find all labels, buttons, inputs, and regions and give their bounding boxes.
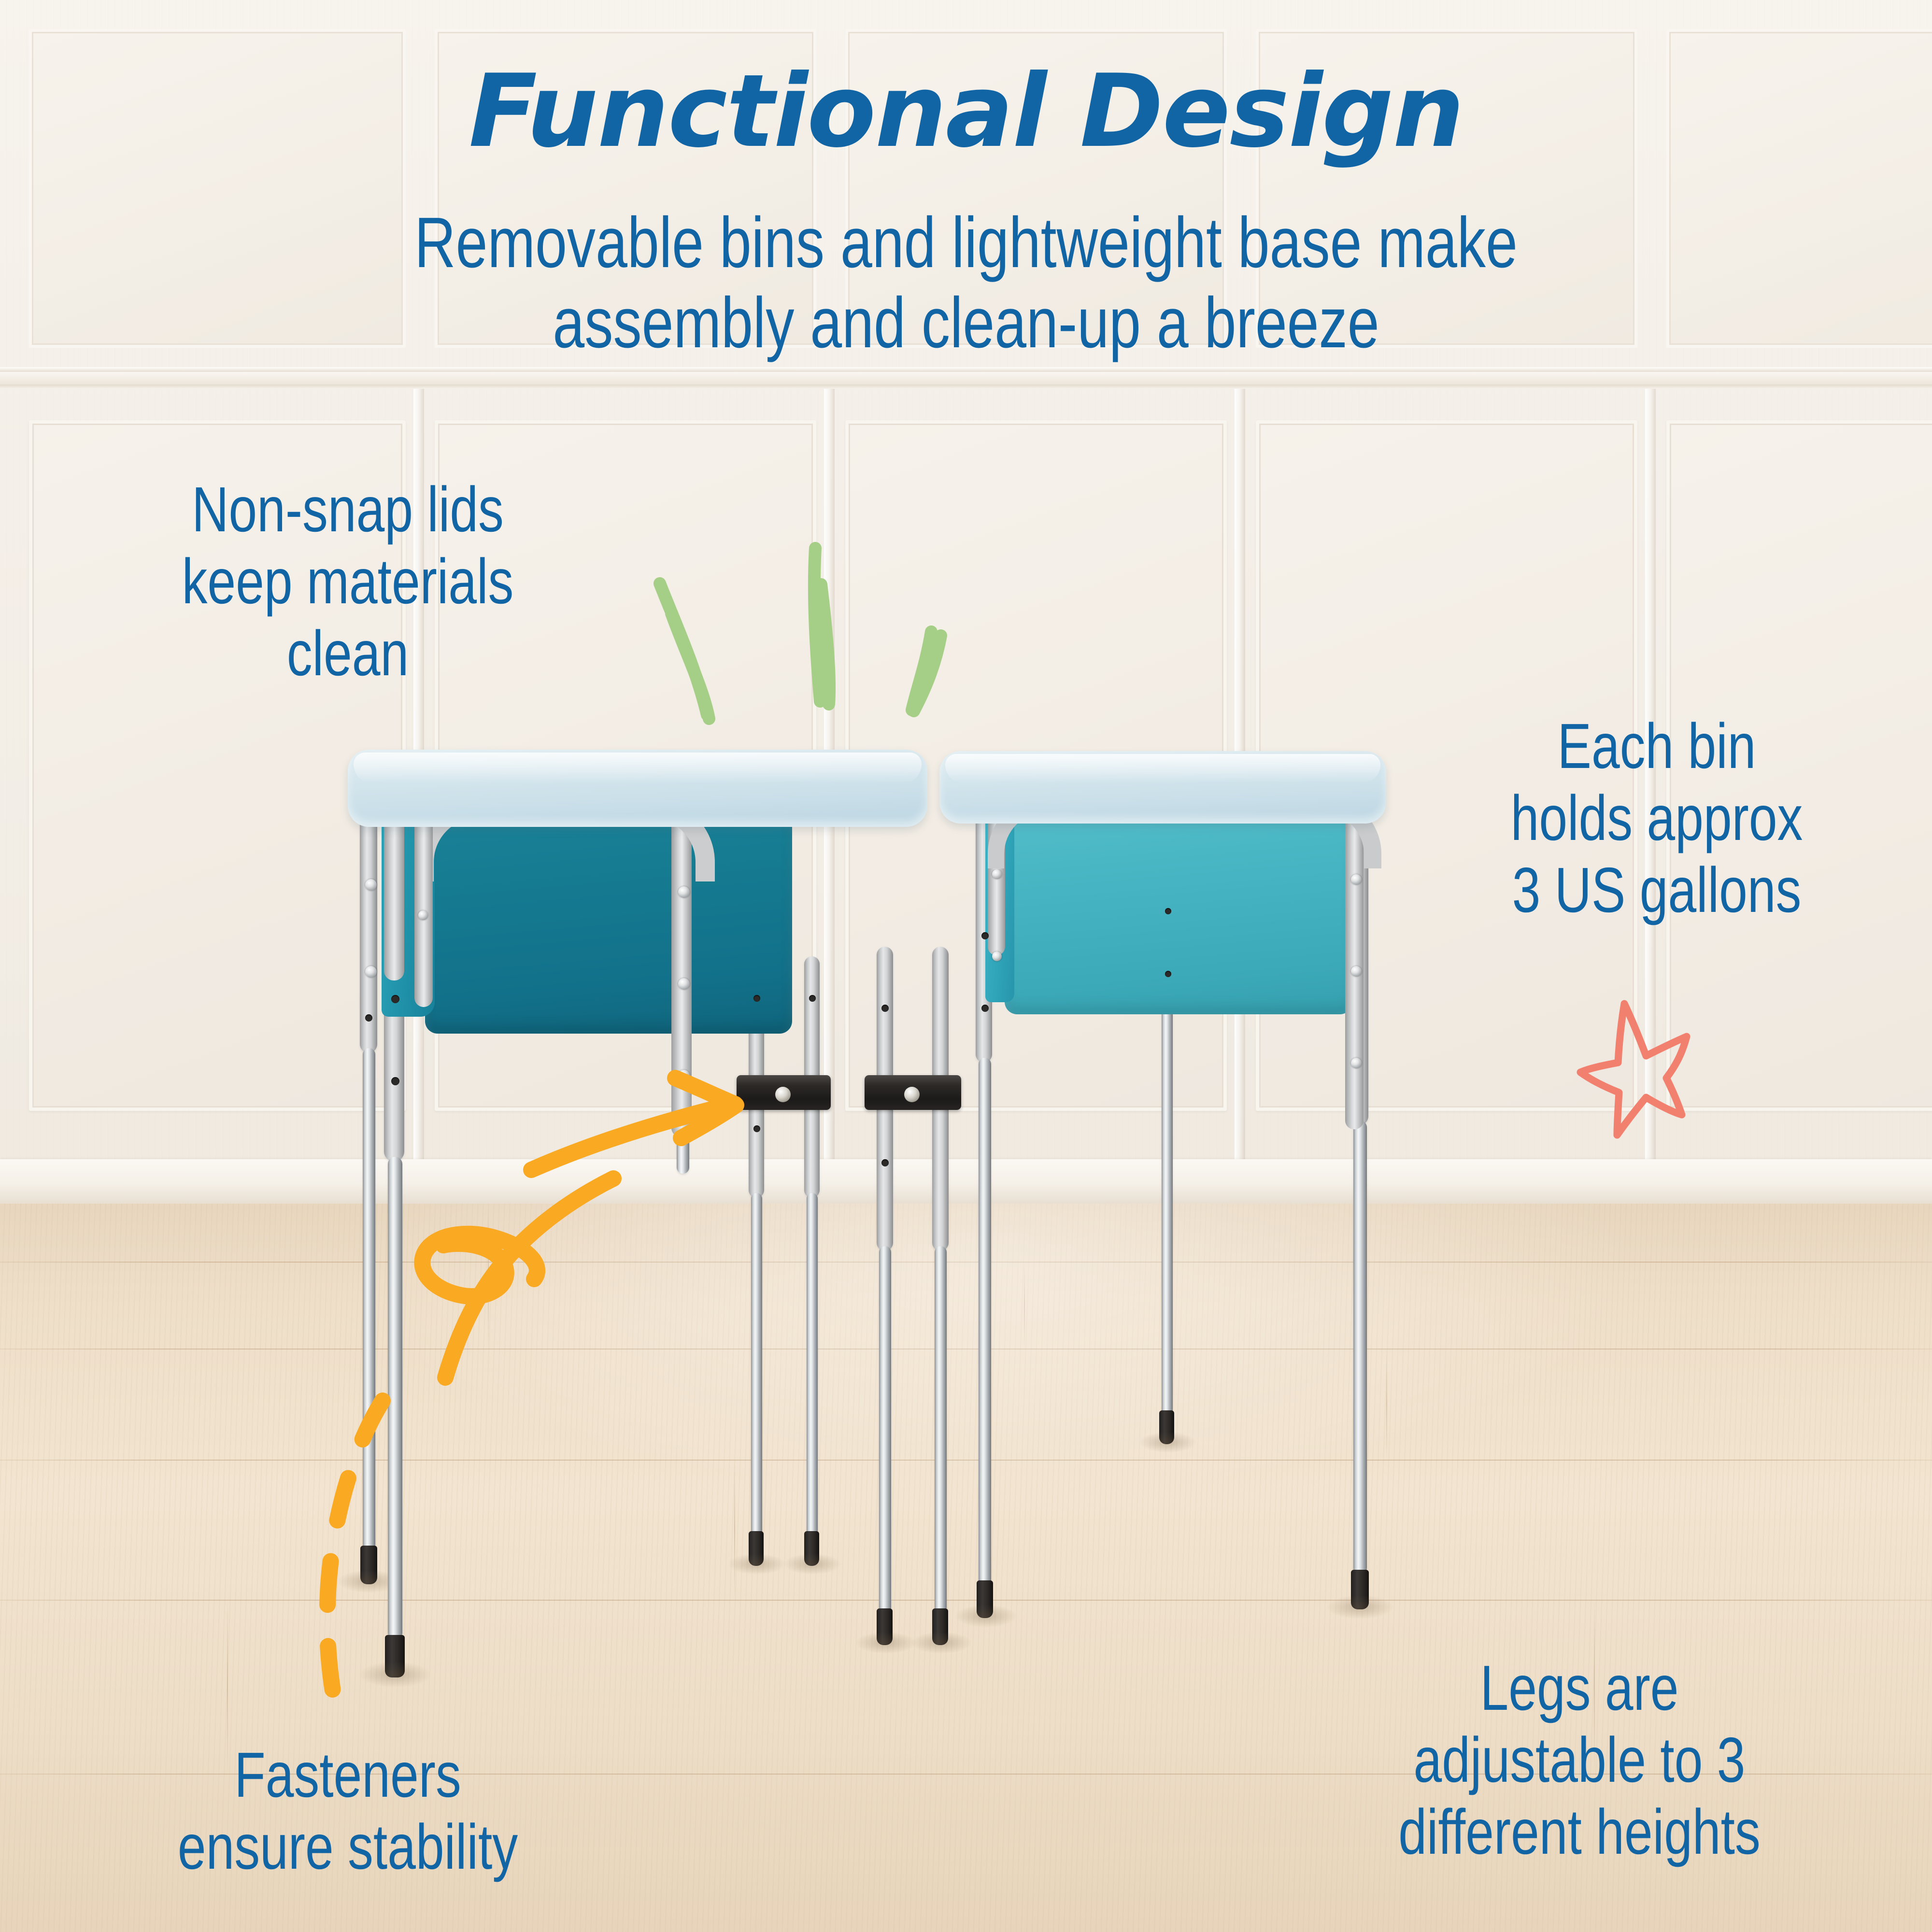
wall-rail-top (0, 367, 1932, 372)
frame-screw (1351, 874, 1362, 885)
height-adjust-hole (391, 995, 399, 1003)
table-lid-highlight (945, 754, 1380, 783)
height-adjust-hole (981, 932, 989, 939)
table-leg-lower (751, 1193, 762, 1536)
callout-line: Each bin (1429, 710, 1885, 782)
height-adjust-hole (1165, 908, 1171, 914)
callout-line: keep materials (93, 545, 603, 617)
table-lid (348, 750, 927, 827)
page-subtitle: Removable bins and lightweight base make… (193, 203, 1739, 363)
table-leg-lower (879, 1246, 891, 1613)
frame-screw (365, 966, 377, 978)
height-adjust-hole (881, 1159, 889, 1166)
page-subtitle-line-1: Removable bins and lightweight base make (193, 203, 1739, 283)
table-leg-lower (1353, 1121, 1367, 1575)
foot-shadow (1326, 1595, 1394, 1619)
callout-line: Non-snap lids (93, 473, 603, 545)
callout-line: Legs are (1305, 1652, 1854, 1724)
callout-line: adjustable to 3 (1305, 1724, 1854, 1796)
fastener-bolt (775, 1087, 791, 1102)
table-leg-lower (807, 1193, 818, 1536)
callout-bin-capacity: Each bin holds approx 3 US gallons (1429, 710, 1885, 926)
callout-line: Fasteners (93, 1739, 603, 1811)
table-leg-lower (363, 1048, 375, 1550)
page-subtitle-line-2: assembly and clean-up a breeze (193, 283, 1739, 363)
wall-rail-mid (0, 372, 1932, 384)
height-adjust-hole (365, 1014, 372, 1022)
frame-screw (418, 910, 428, 920)
foot-shadow (1139, 1432, 1197, 1453)
callout-fasteners: Fasteners ensure stability (93, 1739, 603, 1883)
wall-rail-shadow (0, 384, 1932, 389)
product-infographic: Functional Design Removable bins and lig… (0, 0, 1932, 1932)
table-lid-highlight (354, 753, 922, 783)
frame-screw (1351, 966, 1362, 977)
table-leg-lower (388, 1157, 402, 1640)
callout-line: different heights (1305, 1796, 1854, 1868)
height-adjust-hole (881, 1005, 889, 1012)
foot-shadow (910, 1632, 972, 1654)
table-leg-lower (935, 1246, 947, 1613)
page-title: Functional Design (0, 53, 1932, 170)
callout-adjustable-heights: Legs are adjustable to 3 different heigh… (1305, 1652, 1854, 1868)
table-leg-lower (979, 1058, 991, 1589)
height-adjust-hole (1165, 971, 1171, 977)
foot-shadow (727, 1553, 786, 1575)
callout-line: clean (93, 617, 603, 689)
height-adjust-hole (753, 1125, 760, 1132)
frame-screw (992, 869, 1002, 879)
callout-non-snap-lids: Non-snap lids keep materials clean (93, 473, 603, 689)
callout-line: 3 US gallons (1429, 854, 1885, 926)
foot-shadow (855, 1632, 917, 1654)
frame-screw (1351, 1058, 1362, 1068)
frame-screw (678, 886, 690, 898)
height-adjust-hole (809, 995, 816, 1002)
frame-screw (678, 978, 690, 990)
callout-line: holds approx (1429, 782, 1885, 854)
foot-shadow (954, 1605, 1017, 1628)
table-lid (939, 751, 1386, 824)
height-adjust-hole (753, 995, 760, 1002)
height-adjust-hole (981, 1005, 989, 1012)
height-adjust-hole (391, 1077, 399, 1085)
frame-screw (678, 1070, 690, 1081)
foot-shadow (358, 1662, 432, 1688)
baseboard (0, 1159, 1932, 1207)
callout-line: ensure stability (93, 1811, 603, 1883)
foot-shadow (783, 1553, 842, 1575)
table-leg-upper (360, 792, 377, 1053)
fastener-bolt (904, 1087, 920, 1102)
frame-screw (992, 952, 1002, 961)
frame-screw (365, 879, 377, 891)
frame-arm (414, 799, 433, 1007)
table-leg-lower (1162, 1009, 1173, 1415)
